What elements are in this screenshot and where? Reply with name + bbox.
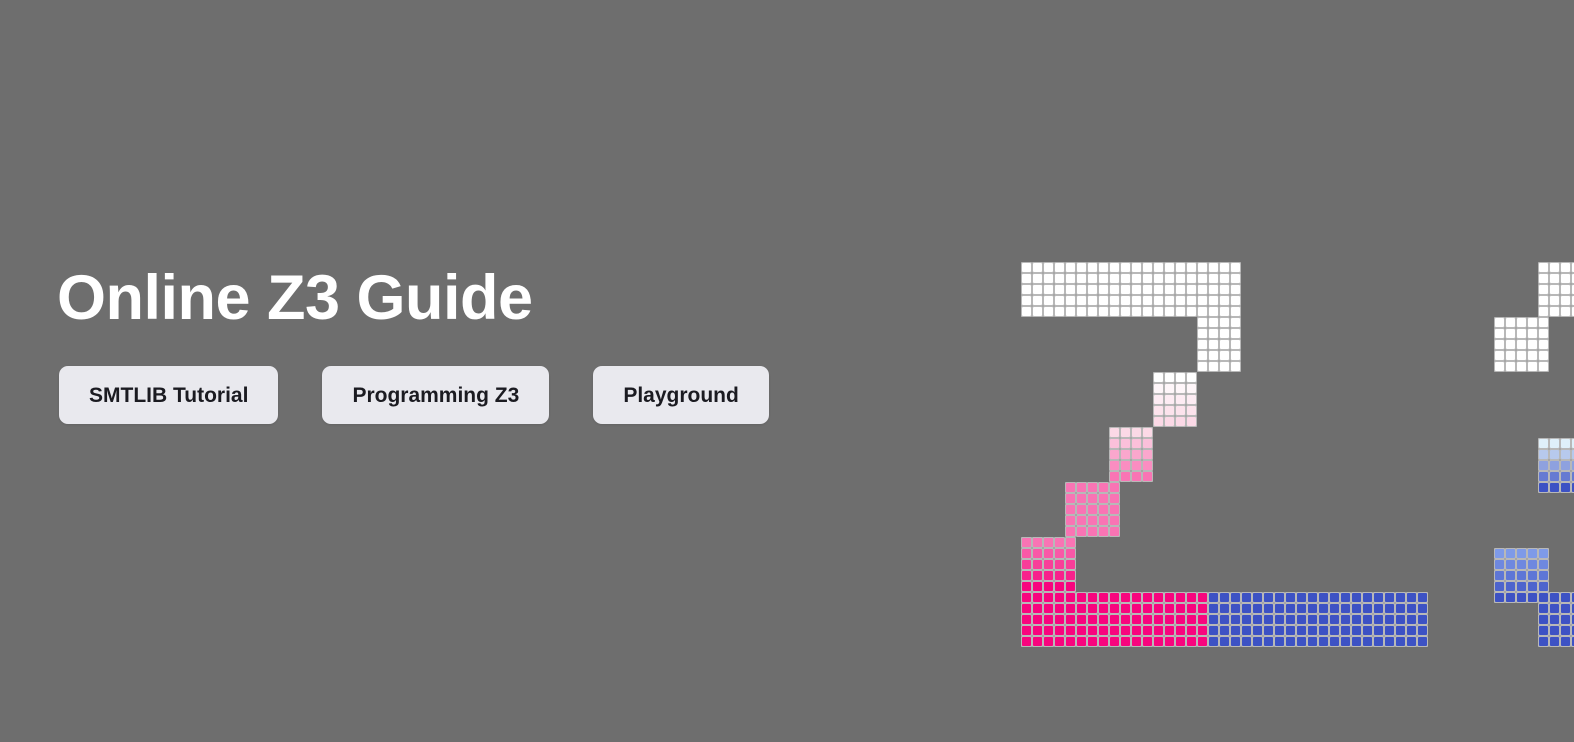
logo-pixel [1065,581,1076,592]
logo-pixel [1098,636,1109,647]
logo-pixel [1538,570,1549,581]
logo-pixel [1219,328,1230,339]
logo-pixel [1076,625,1087,636]
logo-pixel [1021,559,1032,570]
logo-pixel [1230,339,1241,350]
logo-pixel [1076,614,1087,625]
logo-pixel [1263,614,1274,625]
logo-pixel [1505,592,1516,603]
logo-pixel [1120,427,1131,438]
logo-pixel [1351,625,1362,636]
logo-pixel [1219,295,1230,306]
logo-pixel [1087,284,1098,295]
logo-pixel [1516,350,1527,361]
logo-pixel [1538,614,1549,625]
logo-pixel [1076,515,1087,526]
logo-pixel [1241,614,1252,625]
logo-pixel [1219,273,1230,284]
logo-pixel [1527,581,1538,592]
logo-pixel [1362,614,1373,625]
logo-pixel [1241,603,1252,614]
logo-pixel [1175,383,1186,394]
logo-pixel [1560,273,1571,284]
logo-pixel [1373,636,1384,647]
logo-pixel [1175,416,1186,427]
logo-pixel [1142,295,1153,306]
logo-pixel [1197,273,1208,284]
logo-pixel [1494,581,1505,592]
logo-pixel [1142,306,1153,317]
logo-pixel [1120,306,1131,317]
logo-pixel [1395,592,1406,603]
logo-pixel [1351,636,1362,647]
logo-pixel [1175,592,1186,603]
logo-pixel [1021,548,1032,559]
logo-pixel [1175,306,1186,317]
logo-pixel [1494,317,1505,328]
logo-pixel [1285,592,1296,603]
logo-pixel [1065,526,1076,537]
logo-pixel [1164,636,1175,647]
logo-pixel [1131,460,1142,471]
logo-pixel [1560,592,1571,603]
logo-pixel [1285,603,1296,614]
logo-pixel [1296,636,1307,647]
logo-pixel [1395,603,1406,614]
logo-pixel [1362,592,1373,603]
logo-pixel [1219,603,1230,614]
logo-pixel [1043,273,1054,284]
logo-pixel [1362,636,1373,647]
logo-pixel [1043,262,1054,273]
logo-pixel [1087,504,1098,515]
logo-pixel [1230,603,1241,614]
logo-pixel [1230,636,1241,647]
logo-pixel [1230,284,1241,295]
logo-pixel [1098,295,1109,306]
logo-pixel [1087,493,1098,504]
logo-pixel [1560,306,1571,317]
logo-pixel [1549,295,1560,306]
logo-pixel [1351,614,1362,625]
logo-pixel [1538,295,1549,306]
logo-pixel [1120,603,1131,614]
logo-pixel [1197,339,1208,350]
logo-pixel [1087,603,1098,614]
logo-pixel [1164,416,1175,427]
logo-pixel [1340,592,1351,603]
logo-pixel [1340,625,1351,636]
logo-pixel [1230,328,1241,339]
logo-pixel [1065,295,1076,306]
logo-pixel [1164,372,1175,383]
logo-pixel [1384,592,1395,603]
logo-pixel [1538,438,1549,449]
logo-pixel [1021,537,1032,548]
logo-pixel [1494,350,1505,361]
logo-pixel [1219,636,1230,647]
logo-pixel [1065,273,1076,284]
logo-pixel [1153,614,1164,625]
hero-text-block: Online Z3 Guide [57,259,533,337]
programming-z3-button[interactable]: Programming Z3 [322,366,549,424]
logo-pixel [1494,592,1505,603]
logo-pixel [1384,603,1395,614]
logo-pixel [1054,625,1065,636]
logo-pixel [1296,603,1307,614]
logo-pixel [1186,273,1197,284]
logo-pixel [1076,273,1087,284]
logo-pixel [1021,306,1032,317]
logo-pixel [1142,592,1153,603]
logo-pixel [1197,350,1208,361]
logo-pixel [1131,603,1142,614]
logo-pixel [1549,262,1560,273]
logo-pixel [1560,284,1571,295]
logo-pixel [1032,273,1043,284]
logo-pixel [1054,592,1065,603]
logo-pixel [1164,284,1175,295]
logo-pixel [1043,548,1054,559]
logo-pixel [1142,614,1153,625]
logo-pixel [1538,361,1549,372]
logo-pixel [1032,306,1043,317]
logo-pixel [1538,471,1549,482]
logo-pixel [1252,592,1263,603]
logo-pixel [1109,603,1120,614]
logo-pixel [1494,570,1505,581]
logo-pixel [1076,284,1087,295]
logo-pixel [1021,295,1032,306]
logo-pixel [1054,295,1065,306]
logo-pixel [1186,295,1197,306]
logo-pixel [1219,339,1230,350]
logo-pixel [1109,262,1120,273]
logo-pixel [1494,339,1505,350]
logo-pixel [1120,284,1131,295]
logo-pixel [1318,636,1329,647]
logo-pixel [1230,317,1241,328]
logo-pixel [1505,548,1516,559]
logo-pixel [1153,273,1164,284]
logo-pixel [1021,273,1032,284]
logo-pixel [1263,625,1274,636]
logo-pixel [1153,625,1164,636]
logo-pixel [1109,625,1120,636]
playground-button[interactable]: Playground [593,366,769,424]
logo-pixel [1098,493,1109,504]
logo-pixel [1274,614,1285,625]
logo-pixel [1054,262,1065,273]
logo-pixel [1549,625,1560,636]
logo-pixel [1021,625,1032,636]
logo-pixel [1538,592,1549,603]
logo-pixel [1175,394,1186,405]
logo-pixel [1230,361,1241,372]
logo-pixel [1494,548,1505,559]
logo-pixel [1054,537,1065,548]
logo-pixel [1131,592,1142,603]
logo-pixel [1043,636,1054,647]
logo-pixel [1065,482,1076,493]
logo-pixel [1373,614,1384,625]
logo-pixel [1164,383,1175,394]
logo-pixel [1142,427,1153,438]
logo-pixel [1538,636,1549,647]
logo-pixel [1142,438,1153,449]
logo-pixel [1505,581,1516,592]
logo-pixel [1494,328,1505,339]
logo-pixel [1505,317,1516,328]
logo-pixel [1131,284,1142,295]
logo-pixel [1263,603,1274,614]
logo-pixel [1153,295,1164,306]
logo-pixel [1417,603,1428,614]
logo-pixel [1208,592,1219,603]
logo-pixel [1043,592,1054,603]
hero-button-row: SMTLIB Tutorial Programming Z3 Playgroun… [59,366,769,424]
logo-pixel [1120,636,1131,647]
logo-pixel [1131,295,1142,306]
logo-pixel [1109,471,1120,482]
logo-pixel [1175,625,1186,636]
logo-pixel [1164,614,1175,625]
logo-pixel [1065,548,1076,559]
logo-pixel [1087,526,1098,537]
logo-pixel [1120,438,1131,449]
logo-pixel [1527,570,1538,581]
logo-pixel [1098,603,1109,614]
logo-pixel [1131,273,1142,284]
logo-pixel [1131,262,1142,273]
logo-pixel [1043,603,1054,614]
logo-pixel [1230,306,1241,317]
logo-pixel [1021,570,1032,581]
logo-pixel [1087,625,1098,636]
logo-pixel [1131,449,1142,460]
logo-pixel [1065,559,1076,570]
logo-pixel [1560,449,1571,460]
logo-pixel [1098,625,1109,636]
logo-pixel [1527,592,1538,603]
logo-pixel [1142,449,1153,460]
logo-pixel [1208,361,1219,372]
logo-pixel [1065,306,1076,317]
logo-pixel [1175,284,1186,295]
logo-pixel [1549,284,1560,295]
logo-pixel [1186,405,1197,416]
logo-pixel [1549,273,1560,284]
logo-pixel [1208,636,1219,647]
logo-pixel [1538,339,1549,350]
logo-pixel [1230,273,1241,284]
logo-pixel [1131,438,1142,449]
logo-pixel [1120,449,1131,460]
logo-pixel [1131,625,1142,636]
logo-pixel [1131,614,1142,625]
logo-pixel [1153,284,1164,295]
logo-pixel [1065,603,1076,614]
logo-pixel [1384,636,1395,647]
logo-pixel [1329,603,1340,614]
logo-pixel [1098,273,1109,284]
logo-pixel [1098,515,1109,526]
logo-pixel [1560,614,1571,625]
logo-pixel [1296,592,1307,603]
logo-pixel [1120,592,1131,603]
logo-pixel [1527,559,1538,570]
logo-pixel [1527,317,1538,328]
logo-pixel [1384,614,1395,625]
logo-pixel [1538,603,1549,614]
logo-pixel [1175,614,1186,625]
logo-pixel [1208,614,1219,625]
logo-pixel [1560,438,1571,449]
logo-pixel [1109,295,1120,306]
logo-pixel [1109,482,1120,493]
logo-pixel [1043,614,1054,625]
logo-pixel [1219,614,1230,625]
logo-pixel [1142,603,1153,614]
logo-pixel [1285,625,1296,636]
logo-pixel [1054,603,1065,614]
logo-pixel [1142,460,1153,471]
logo-pixel [1076,592,1087,603]
logo-pixel [1230,625,1241,636]
logo-pixel [1065,284,1076,295]
logo-pixel [1538,460,1549,471]
logo-pixel [1549,592,1560,603]
logo-pixel [1186,306,1197,317]
logo-pixel [1076,636,1087,647]
logo-pixel [1120,273,1131,284]
logo-pixel [1219,350,1230,361]
logo-pixel [1065,493,1076,504]
logo-pixel [1527,328,1538,339]
logo-pixel [1230,262,1241,273]
logo-pixel [1417,592,1428,603]
logo-pixel [1021,592,1032,603]
logo-pixel [1164,592,1175,603]
logo-pixel [1285,614,1296,625]
logo-pixel [1164,306,1175,317]
logo-pixel [1406,592,1417,603]
logo-pixel [1362,625,1373,636]
logo-pixel [1032,603,1043,614]
logo-pixel [1186,625,1197,636]
logo-pixel [1087,273,1098,284]
logo-pixel [1186,636,1197,647]
logo-pixel [1505,350,1516,361]
logo-pixel [1329,625,1340,636]
logo-pixel [1505,328,1516,339]
logo-pixel [1494,361,1505,372]
logo-pixel [1076,262,1087,273]
logo-pixel [1109,636,1120,647]
logo-pixel [1329,592,1340,603]
logo-pixel [1219,361,1230,372]
logo-pixel [1087,262,1098,273]
logo-pixel [1538,449,1549,460]
logo-pixel [1076,493,1087,504]
logo-pixel [1318,592,1329,603]
logo-pixel [1065,504,1076,515]
logo-pixel [1549,438,1560,449]
logo-pixel [1208,339,1219,350]
logo-pixel [1538,262,1549,273]
z3-pixel-logo [1021,262,1521,582]
logo-pixel [1417,636,1428,647]
logo-pixel [1340,636,1351,647]
logo-pixel [1274,603,1285,614]
logo-pixel [1043,306,1054,317]
logo-pixel [1516,592,1527,603]
logo-pixel [1153,603,1164,614]
logo-pixel [1197,614,1208,625]
logo-pixel [1098,592,1109,603]
logo-pixel [1197,284,1208,295]
logo-pixel [1087,614,1098,625]
logo-pixel [1153,416,1164,427]
logo-pixel [1560,603,1571,614]
logo-pixel [1021,581,1032,592]
logo-pixel [1208,273,1219,284]
logo-pixel [1109,526,1120,537]
logo-pixel [1109,504,1120,515]
logo-pixel [1164,405,1175,416]
logo-pixel [1186,614,1197,625]
logo-pixel [1527,339,1538,350]
logo-pixel [1329,636,1340,647]
logo-pixel [1164,625,1175,636]
logo-pixel [1076,504,1087,515]
logo-pixel [1087,482,1098,493]
logo-pixel [1505,339,1516,350]
logo-pixel [1054,559,1065,570]
logo-pixel [1175,262,1186,273]
logo-pixel [1065,570,1076,581]
logo-pixel [1373,603,1384,614]
logo-pixel [1296,614,1307,625]
logo-pixel [1153,372,1164,383]
logo-pixel [1516,570,1527,581]
logo-pixel [1153,262,1164,273]
logo-pixel [1494,559,1505,570]
logo-pixel [1164,603,1175,614]
logo-pixel [1549,603,1560,614]
logo-pixel [1054,273,1065,284]
logo-pixel [1516,339,1527,350]
smtlib-tutorial-button[interactable]: SMTLIB Tutorial [59,366,278,424]
logo-pixel [1318,625,1329,636]
logo-pixel [1197,262,1208,273]
logo-pixel [1153,306,1164,317]
logo-pixel [1318,614,1329,625]
logo-pixel [1175,372,1186,383]
logo-pixel [1120,625,1131,636]
logo-pixel [1186,394,1197,405]
logo-pixel [1043,581,1054,592]
logo-pixel [1021,262,1032,273]
logo-pixel [1109,460,1120,471]
logo-pixel [1197,592,1208,603]
logo-pixel [1406,603,1417,614]
logo-pixel [1516,361,1527,372]
logo-pixel [1153,394,1164,405]
logo-pixel [1549,460,1560,471]
logo-pixel [1252,625,1263,636]
logo-pixel [1186,284,1197,295]
